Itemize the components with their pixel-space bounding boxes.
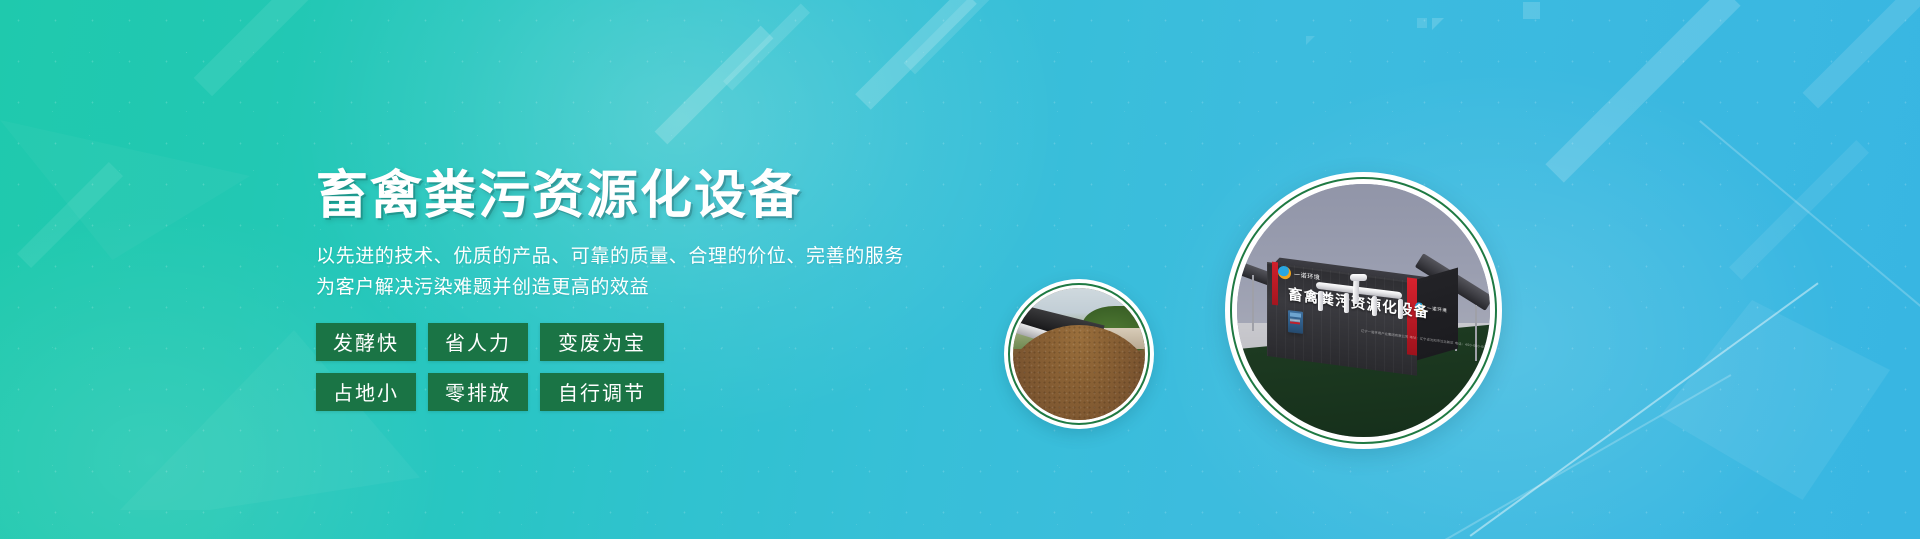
feature-tag-zero-emission[interactable]: 零排放	[428, 373, 528, 411]
subtitle-line-1: 以先进的技术、优质的产品、可靠的质量、合理的价位、完善的服务	[316, 241, 956, 272]
speckle-texture	[0, 0, 1920, 539]
compost-photo-ring	[1008, 283, 1150, 425]
control-cabinet	[1288, 310, 1303, 334]
roof-pipe-leg	[1344, 293, 1349, 313]
decorative-triangle	[1306, 36, 1315, 45]
diagonal-bar	[655, 26, 774, 145]
subtitle-line-2: 为客户解决污染难题并创造更高的效益	[316, 272, 956, 303]
product-photo-circle: 一诺环境 一诺环境 畜禽粪污资源化设备 辽宁一诺环境产业集团有限公司 地址：辽宁…	[1225, 172, 1502, 449]
roof-pipe-leg	[1318, 291, 1323, 311]
decorative-square	[1523, 2, 1540, 19]
decorative-polygon	[1660, 300, 1890, 500]
hairline	[1470, 282, 1819, 536]
roof-pipe-leg	[1372, 296, 1377, 316]
product-photo-ring: 一诺环境 一诺环境 畜禽粪污资源化设备 辽宁一诺环境产业集团有限公司 地址：辽宁…	[1230, 177, 1497, 444]
right-conveyor-rail	[1475, 305, 1477, 361]
diagonal-bar	[904, 0, 1009, 74]
feature-tag-row-1: 发酵快 省人力 变废为宝	[316, 323, 956, 361]
diagonal-bar	[17, 162, 123, 268]
roof-pipe-leg	[1398, 299, 1403, 319]
decorative-triangle	[1432, 18, 1444, 30]
feature-tag-row-2: 占地小 零排放 自行调节	[316, 373, 956, 411]
feature-tag-waste-to-treasure[interactable]: 变废为宝	[540, 323, 664, 361]
brand-logo-icon	[1278, 265, 1291, 280]
diagonal-bar	[1545, 0, 1740, 183]
promo-banner: 畜禽粪污资源化设备 以先进的技术、优质的产品、可靠的质量、合理的价位、完善的服务…	[0, 0, 1920, 539]
banner-subtitle: 以先进的技术、优质的产品、可靠的质量、合理的价位、完善的服务 为客户解决污染难题…	[316, 241, 956, 303]
left-conveyor-rail	[1252, 275, 1254, 331]
decorative-square	[1417, 18, 1427, 28]
roof-vent-cap	[1350, 274, 1367, 281]
banner-copy: 畜禽粪污资源化设备 以先进的技术、优质的产品、可靠的质量、合理的价位、完善的服务…	[316, 168, 956, 411]
feature-tag-labor-saving[interactable]: 省人力	[428, 323, 528, 361]
brand-name: 一诺环境	[1294, 269, 1320, 281]
feature-tag-list: 发酵快 省人力 变废为宝 占地小 零排放 自行调节	[316, 323, 956, 411]
compost-photo-circle	[1004, 279, 1154, 429]
decorative-polygon	[0, 120, 250, 260]
product-photo-image: 一诺环境 一诺环境 畜禽粪污资源化设备 辽宁一诺环境产业集团有限公司 地址：辽宁…	[1237, 184, 1490, 437]
diagonal-bar	[1803, 0, 1920, 108]
compost-photo-image	[1013, 288, 1145, 420]
feature-tag-self-adjusting[interactable]: 自行调节	[540, 373, 664, 411]
diagonal-bar	[1729, 140, 1869, 280]
feature-tag-fast-fermentation[interactable]: 发酵快	[316, 323, 416, 361]
diagonal-bar	[194, 0, 333, 96]
hairline	[1700, 120, 1920, 314]
diagonal-bar	[855, 0, 977, 110]
brand-name: 一诺环境	[1427, 305, 1447, 314]
product-scene: 一诺环境 一诺环境 畜禽粪污资源化设备 辽宁一诺环境产业集团有限公司 地址：辽宁…	[1237, 184, 1490, 437]
background-decoration	[0, 0, 1920, 539]
cabinet-emergency-button	[1290, 321, 1300, 325]
feature-tag-small-footprint[interactable]: 占地小	[316, 373, 416, 411]
compost-pile	[1013, 325, 1145, 420]
diagonal-bar	[723, 4, 810, 91]
equipment-unit: 一诺环境 一诺环境 畜禽粪污资源化设备 辽宁一诺环境产业集团有限公司 地址：辽宁…	[1267, 262, 1454, 356]
page-title: 畜禽粪污资源化设备	[316, 168, 956, 225]
